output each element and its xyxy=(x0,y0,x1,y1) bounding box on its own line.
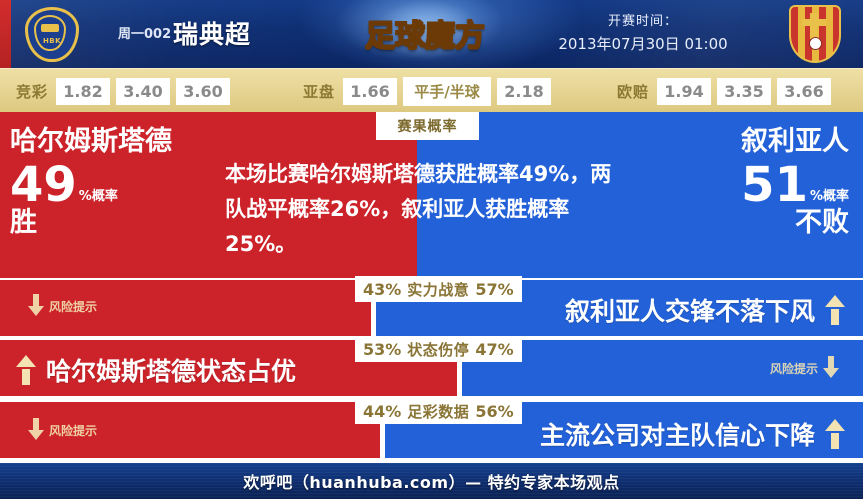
header-bar: HBK 周一002 瑞典超 足球魔方 开赛时间： 2013年07月30日 01:… xyxy=(0,0,863,68)
away-team-block: 叙利亚人 51 %概率 不败 xyxy=(634,126,849,238)
home-risk-label: 风险提示 xyxy=(49,298,97,315)
away-verdict: 主流公司对主队信心下降 xyxy=(540,416,845,452)
footer-credit-text: 欢呼吧（huanhuba.com）— 特约专家本场观点 xyxy=(243,469,619,493)
stat-home-percent: 44% xyxy=(363,402,401,421)
odds-group-asian-handicap: 亚盘 1.66 平手/半球 2.18 xyxy=(303,69,551,113)
odds-cell-draw[interactable]: 3.35 xyxy=(717,78,771,105)
odds-cell-away[interactable]: 3.66 xyxy=(777,78,831,105)
odds-cell-handicap[interactable]: 平手/半球 xyxy=(403,77,491,106)
home-risk-label: 风险提示 xyxy=(49,422,97,439)
away-verdict-label: 主流公司对主队信心下降 xyxy=(540,416,815,452)
tab-result-probability[interactable]: 赛果概率 xyxy=(376,112,479,140)
match-preview-infographic: HBK 周一002 瑞典超 足球魔方 开赛时间： 2013年07月30日 01:… xyxy=(0,0,863,499)
away-team-crest-icon xyxy=(789,5,841,63)
stat-home-percent: 53% xyxy=(363,340,401,359)
odds-group-label: 欧赔 xyxy=(617,81,649,102)
away-probability-unit: %概率 xyxy=(810,185,849,204)
home-risk-note: 风险提示 xyxy=(28,418,97,442)
away-probability-value: 51 xyxy=(741,160,808,210)
away-team-name: 叙利亚人 xyxy=(634,126,849,158)
header-red-accent-strip xyxy=(0,0,11,68)
arrow-up-icon xyxy=(825,419,845,449)
home-team-crest-icon: HBK xyxy=(25,7,79,62)
away-risk-note: 风险提示 xyxy=(770,356,839,380)
league-name: 瑞典超 xyxy=(173,15,251,51)
odds-group-jingcai: 竞彩 1.82 3.40 3.60 xyxy=(16,69,230,113)
stat-title: 实力战意 xyxy=(407,279,469,300)
home-verdict: 哈尔姆斯塔德状态占优 xyxy=(16,352,296,388)
kickoff-label: 开赛时间： xyxy=(533,11,753,33)
stat-home-percent: 43% xyxy=(363,280,401,299)
home-team-block: 哈尔姆斯塔德 49 %概率 胜 xyxy=(10,126,220,238)
odds-group-label: 亚盘 xyxy=(303,81,335,102)
stat-row-betting-data: 44% 足彩数据 56% 风险提示 主流公司对主队信心下降 xyxy=(0,402,863,458)
odds-cell-home[interactable]: 1.66 xyxy=(343,78,397,105)
away-risk-label: 风险提示 xyxy=(770,360,818,377)
stat-away-percent: 56% xyxy=(475,402,513,421)
stat-row-caption: 43% 实力战意 57% xyxy=(355,276,522,302)
brand-logo: 足球魔方 xyxy=(355,8,495,58)
odds-cell-home[interactable]: 1.94 xyxy=(657,78,711,105)
crest-ball-icon xyxy=(809,37,822,50)
match-number: 周一002 xyxy=(118,23,171,42)
stat-row-strength: 43% 实力战意 57% 风险提示 叙利亚人交锋不落下风 xyxy=(0,280,863,336)
kickoff-time-block: 开赛时间： 2013年07月30日 01:00 xyxy=(533,11,753,55)
footer-bar: 欢呼吧（huanhuba.com）— 特约专家本场观点 xyxy=(0,463,863,499)
odds-bar: 竞彩 1.82 3.40 3.60 亚盘 1.66 平手/半球 2.18 欧赔 … xyxy=(0,68,863,113)
match-summary-text: 本场比赛哈尔姆斯塔德获胜概率49%，两队战平概率26%，叙利亚人获胜概率25%。 xyxy=(225,157,615,262)
home-team-name: 哈尔姆斯塔德 xyxy=(10,126,220,158)
arrow-down-icon xyxy=(823,356,839,380)
result-probability-panel: 哈尔姆斯塔德 49 %概率 胜 叙利亚人 51 %概率 不败 赛果概率 本场比赛… xyxy=(0,112,863,278)
crest-cross-vertical xyxy=(810,13,818,39)
crest-initials: HBK xyxy=(25,37,79,45)
away-verdict-label: 叙利亚人交锋不落下风 xyxy=(565,292,815,328)
stat-row-form-injury: 53% 状态伤停 47% 哈尔姆斯塔德状态占优 风险提示 xyxy=(0,340,863,396)
odds-cell-home[interactable]: 1.82 xyxy=(56,78,110,105)
arrow-down-icon xyxy=(28,418,44,442)
arrow-up-icon xyxy=(16,355,36,385)
home-risk-note: 风险提示 xyxy=(28,294,97,318)
home-verdict-label: 哈尔姆斯塔德状态占优 xyxy=(46,352,296,388)
away-verdict: 叙利亚人交锋不落下风 xyxy=(565,292,845,328)
crest-cross-horizontal xyxy=(802,19,826,26)
stat-row-caption: 44% 足彩数据 56% xyxy=(355,398,522,424)
stat-row-caption: 53% 状态伤停 47% xyxy=(355,336,522,362)
odds-group-label: 竞彩 xyxy=(16,81,48,102)
home-probability-unit: %概率 xyxy=(79,185,118,204)
odds-group-european: 欧赔 1.94 3.35 3.66 xyxy=(617,69,831,113)
crest-bar-shape xyxy=(41,24,59,32)
odds-cell-away[interactable]: 2.18 xyxy=(497,78,551,105)
kickoff-value: 2013年07月30日 01:00 xyxy=(533,33,753,55)
arrow-down-icon xyxy=(28,294,44,318)
odds-cell-draw[interactable]: 3.40 xyxy=(116,78,170,105)
stat-away-percent: 57% xyxy=(475,280,513,299)
arrow-up-icon xyxy=(825,295,845,325)
stat-title: 状态伤停 xyxy=(407,339,469,360)
brand-logo-text: 足球魔方 xyxy=(365,11,485,55)
home-probability-value: 49 xyxy=(10,160,77,210)
stat-title: 足彩数据 xyxy=(407,401,469,422)
odds-cell-away[interactable]: 3.60 xyxy=(176,78,230,105)
stat-away-percent: 47% xyxy=(475,340,513,359)
